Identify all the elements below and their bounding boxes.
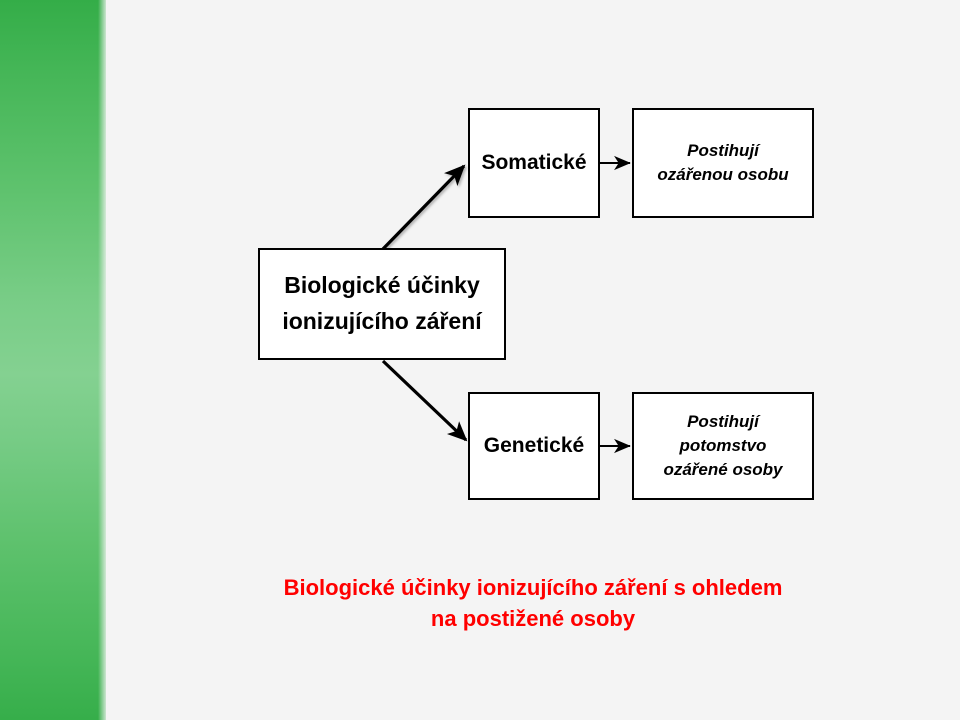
node-effect-somaticke-line1: Postihují (687, 141, 759, 160)
slide-caption: Biologické účinky ionizujícího záření s … (106, 572, 960, 634)
node-effect-somaticke-line2: ozářenou osobu (657, 165, 788, 184)
node-root-biologicke-ucinky: Biologické účinky ionizujícího záření (258, 248, 506, 360)
node-effect-geneticke-line1: Postihují (687, 412, 759, 431)
node-category-somaticke: Somatické (468, 108, 600, 218)
node-effect-somaticke: Postihují ozářenou osobu (632, 108, 814, 218)
caption-line-2: na postižené osoby (106, 603, 960, 634)
node-root-label: Biologické účinky ionizujícího záření (276, 268, 487, 339)
node-effect-geneticke: Postihují potomstvo ozářené osoby (632, 392, 814, 500)
node-effect-geneticke-label: Postihují potomstvo ozářené osoby (657, 410, 788, 482)
node-effect-somaticke-label: Postihují ozářenou osobu (651, 139, 794, 187)
node-category-geneticke-label: Genetické (478, 432, 590, 460)
node-root-line2: ionizujícího záření (282, 308, 481, 334)
node-root-line1: Biologické účinky (284, 272, 480, 298)
node-effect-geneticke-line3: ozářené osoby (663, 460, 782, 479)
slide-canvas: Biologické účinky ionizujícího záření So… (0, 0, 960, 720)
node-category-somaticke-label: Somatické (475, 149, 592, 177)
left-green-accent-band (0, 0, 106, 720)
arrow-root-to-somaticke (383, 166, 464, 249)
arrow-root-to-geneticke (383, 361, 466, 440)
caption-line-1: Biologické účinky ionizujícího záření s … (106, 572, 960, 603)
node-category-geneticke: Genetické (468, 392, 600, 500)
node-effect-geneticke-line2: potomstvo (680, 436, 767, 455)
